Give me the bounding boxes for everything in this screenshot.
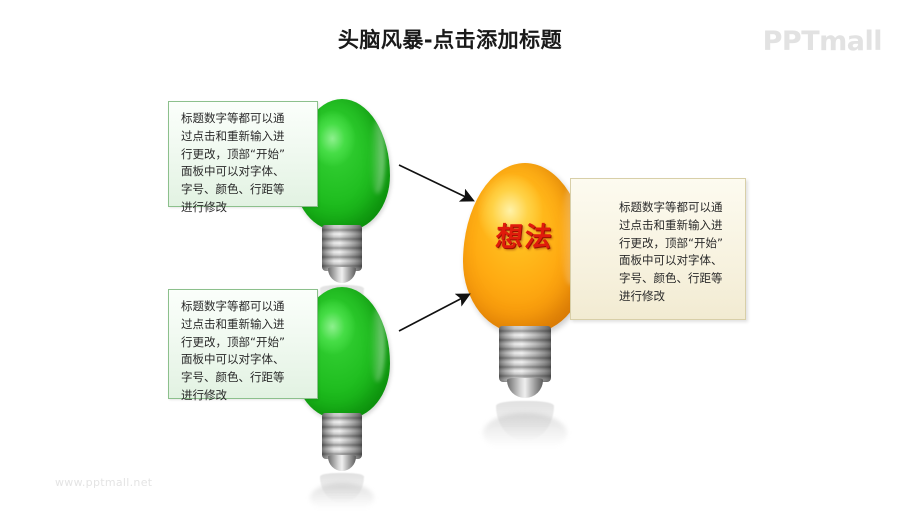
bulb-reflection-glow <box>483 413 567 453</box>
text-line: 过点击和重新输入进 <box>619 217 735 235</box>
arrow-right-down-icon <box>399 165 472 200</box>
text-line: 标题数字等都可以通 <box>181 298 307 316</box>
bulb-screw-base-icon <box>322 413 362 459</box>
footer-watermark: www.pptmall.net <box>55 476 152 489</box>
text-line: 字号、颜色、行距等 <box>619 270 735 288</box>
text-line: 字号、颜色、行距等 <box>181 181 307 199</box>
slide-canvas: 头脑风暴-点击添加标题 PPTmall 想法 <box>0 0 900 506</box>
bulb-screw-base-icon <box>322 225 362 271</box>
bulb-reflection-glow <box>310 483 374 513</box>
text-line: 进行修改 <box>181 387 307 405</box>
text-box-right[interactable]: 标题数字等都可以通 过点击和重新输入进 行更改，顶部“开始” 面板中可以对字体、… <box>570 178 746 320</box>
text-line: 进行修改 <box>619 288 735 306</box>
text-line: 进行修改 <box>181 199 307 217</box>
text-line: 行更改，顶部“开始” <box>181 146 307 164</box>
text-line: 过点击和重新输入进 <box>181 128 307 146</box>
bulb-tip-icon <box>328 267 356 283</box>
text-line: 面板中可以对字体、 <box>181 163 307 181</box>
text-line: 行更改，顶部“开始” <box>619 235 735 253</box>
arrow-right-up-icon <box>399 295 468 331</box>
text-line: 字号、颜色、行距等 <box>181 369 307 387</box>
text-line: 行更改，顶部“开始” <box>181 334 307 352</box>
text-line: 面板中可以对字体、 <box>181 351 307 369</box>
bulb-tip-icon <box>507 378 543 398</box>
text-line: 标题数字等都可以通 <box>181 110 307 128</box>
bulb-tip-icon <box>328 455 356 471</box>
text-line: 面板中可以对字体、 <box>619 252 735 270</box>
text-box-top-left[interactable]: 标题数字等都可以通 过点击和重新输入进 行更改，顶部“开始” 面板中可以对字体、… <box>168 101 318 207</box>
pptmall-logo: PPTmall <box>763 26 882 57</box>
arrow-bottom-svg <box>398 287 488 337</box>
text-line: 过点击和重新输入进 <box>181 316 307 334</box>
text-box-bottom-left[interactable]: 标题数字等都可以通 过点击和重新输入进 行更改，顶部“开始” 面板中可以对字体、… <box>168 289 318 399</box>
arrow-top-svg <box>398 162 488 212</box>
bulb-screw-base-icon <box>499 326 551 382</box>
text-line: 标题数字等都可以通 <box>619 199 735 217</box>
